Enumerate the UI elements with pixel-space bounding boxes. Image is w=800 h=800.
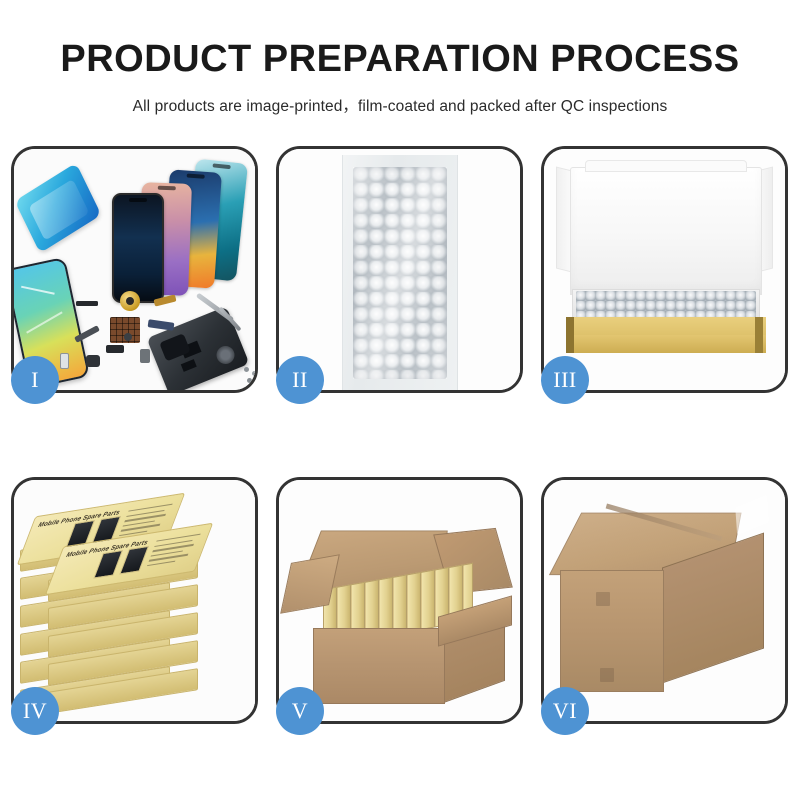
step-badge-5: V — [276, 687, 324, 735]
flex-cable-part — [148, 319, 175, 331]
phone-screen-dark — [112, 193, 164, 303]
header: PRODUCT PREPARATION PROCESS All products… — [0, 0, 800, 116]
step-3-image — [544, 149, 785, 390]
process-step-6: VI — [541, 477, 788, 724]
screws-part — [244, 367, 249, 372]
process-step-grid: I II — [11, 146, 789, 724]
adhesive-film-part — [15, 163, 102, 253]
step-1-image — [14, 149, 255, 390]
box-spec-lines — [146, 534, 201, 570]
step-badge-6: VI — [541, 687, 589, 735]
step-badge-4: IV — [11, 687, 59, 735]
process-step-2: II — [276, 146, 523, 393]
page-subtitle: All products are image-printed，film-coat… — [0, 94, 800, 116]
process-step-1: I — [11, 146, 258, 393]
phone-parts-scene — [14, 149, 255, 390]
box-stack-scene: Mobile Phone Spare Parts Mobile Phone Sp… — [14, 480, 255, 721]
notch-icon — [129, 198, 147, 202]
small-part — [76, 301, 98, 306]
process-step-4: Mobile Phone Spare Parts Mobile Phone Sp… — [11, 477, 258, 724]
bubble-wrap-scene — [279, 149, 520, 390]
speaker-coil-part — [120, 291, 140, 311]
product-preparation-infographic: PRODUCT PREPARATION PROCESS All products… — [0, 0, 800, 800]
page-title: PRODUCT PREPARATION PROCESS — [0, 38, 800, 82]
carton-hand-hole — [600, 668, 614, 682]
step-6-image — [544, 480, 785, 721]
small-part — [86, 355, 100, 367]
notch-icon — [187, 174, 205, 179]
small-part — [106, 345, 124, 353]
carton-hand-hole — [596, 592, 610, 606]
phone-back-housing — [147, 306, 250, 390]
step-5-image — [279, 480, 520, 721]
small-part — [124, 333, 132, 341]
notch-icon — [158, 186, 176, 191]
bubble-wrapped-contents — [576, 291, 756, 319]
white-box-lid — [570, 167, 762, 295]
open-carton-scene — [279, 480, 520, 721]
step-2-image — [279, 149, 520, 390]
small-part — [60, 353, 69, 369]
kraft-box-edge-right — [755, 317, 763, 353]
open-box-scene — [544, 149, 785, 390]
step-badge-1: I — [11, 356, 59, 404]
step-badge-2: II — [276, 356, 324, 404]
box-product-image — [119, 546, 149, 575]
kraft-box-edge-left — [566, 317, 574, 353]
kraft-box-front — [566, 335, 766, 353]
step-badge-3: III — [541, 356, 589, 404]
sealed-carton-scene — [544, 480, 785, 721]
process-step-3: III — [541, 146, 788, 393]
carton-front-panel — [313, 628, 445, 704]
carton-tape-highlight — [735, 495, 768, 535]
notch-icon — [212, 163, 230, 169]
process-step-5: V — [276, 477, 523, 724]
step-4-image: Mobile Phone Spare Parts Mobile Phone Sp… — [14, 480, 255, 721]
small-part — [140, 349, 150, 363]
bubble-wrap-sheet — [353, 167, 447, 379]
